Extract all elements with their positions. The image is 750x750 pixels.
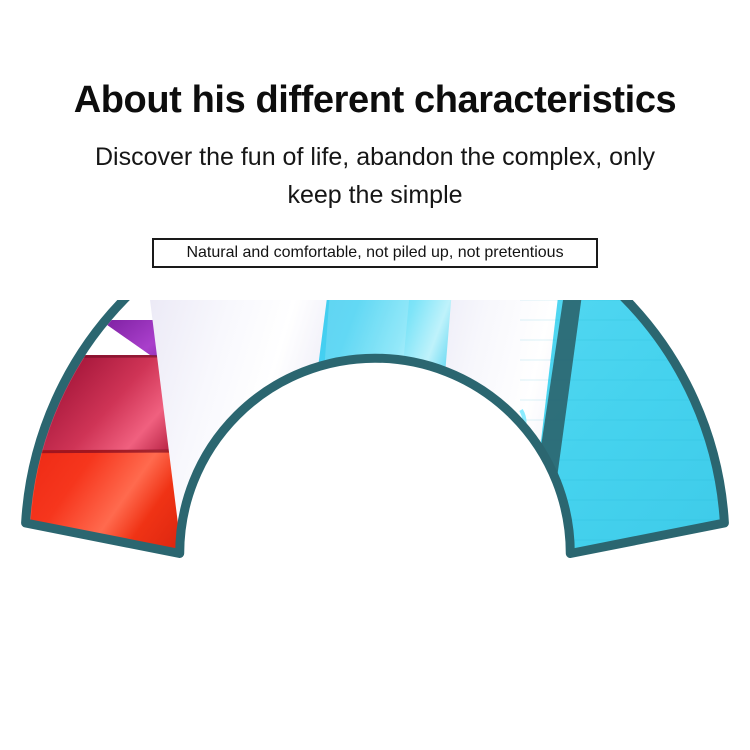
panel-pink-satin-ribbon (0, 550, 230, 680)
caption-text: Natural and comfortable, not piled up, n… (186, 244, 563, 262)
seam-pink-red (0, 551, 232, 680)
fan-illustration (0, 300, 750, 680)
text-block: About his different characteristics Disc… (0, 0, 750, 214)
page-root: About his different characteristics Disc… (0, 0, 750, 750)
panel-white-satin-ribbon-left (150, 300, 330, 680)
product-image (0, 300, 750, 680)
caption-box: Natural and comfortable, not piled up, n… (152, 238, 598, 268)
page-title: About his different characteristics (0, 0, 750, 122)
page-subtitle: Discover the fun of life, abandon the co… (70, 122, 680, 214)
organza-selvedge (518, 410, 525, 602)
